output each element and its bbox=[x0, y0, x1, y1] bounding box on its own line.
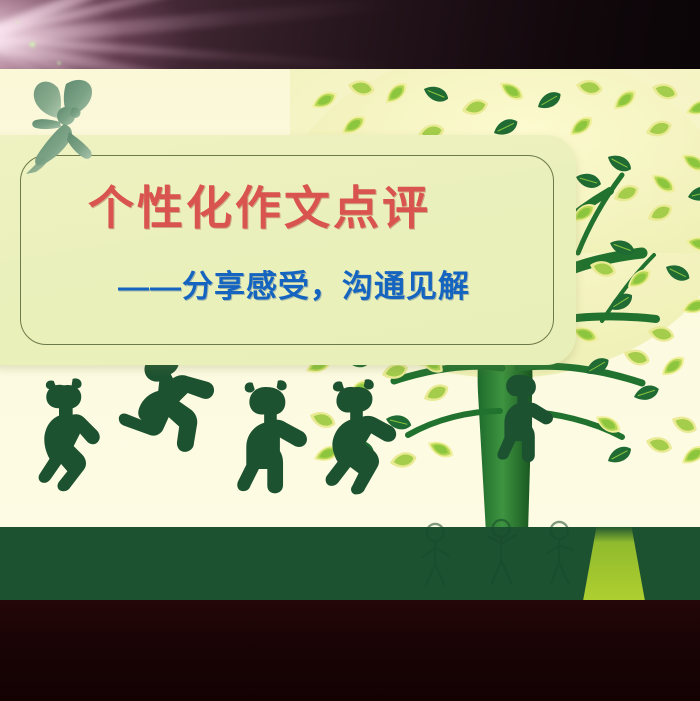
child-silhouette bbox=[497, 375, 553, 463]
child-silhouette bbox=[39, 378, 100, 491]
sparkle-icon bbox=[56, 60, 62, 66]
fairy-icon bbox=[14, 74, 108, 174]
top-banner bbox=[0, 0, 700, 69]
footer-band bbox=[0, 600, 700, 701]
sparkle-icon bbox=[15, 20, 20, 25]
page-subtitle: ——分享感受，沟通见解 bbox=[118, 261, 470, 306]
sparkle-icon bbox=[28, 40, 37, 49]
child-silhouette bbox=[119, 353, 214, 452]
child-silhouette bbox=[326, 379, 397, 494]
ground-strip bbox=[0, 527, 700, 600]
presentation-slide: 个性化作文点评 ——分享感受，沟通见解 bbox=[0, 0, 700, 701]
children-silhouettes bbox=[0, 337, 700, 527]
child-silhouette bbox=[237, 380, 307, 493]
page-title: 个性化作文点评 bbox=[88, 172, 431, 238]
